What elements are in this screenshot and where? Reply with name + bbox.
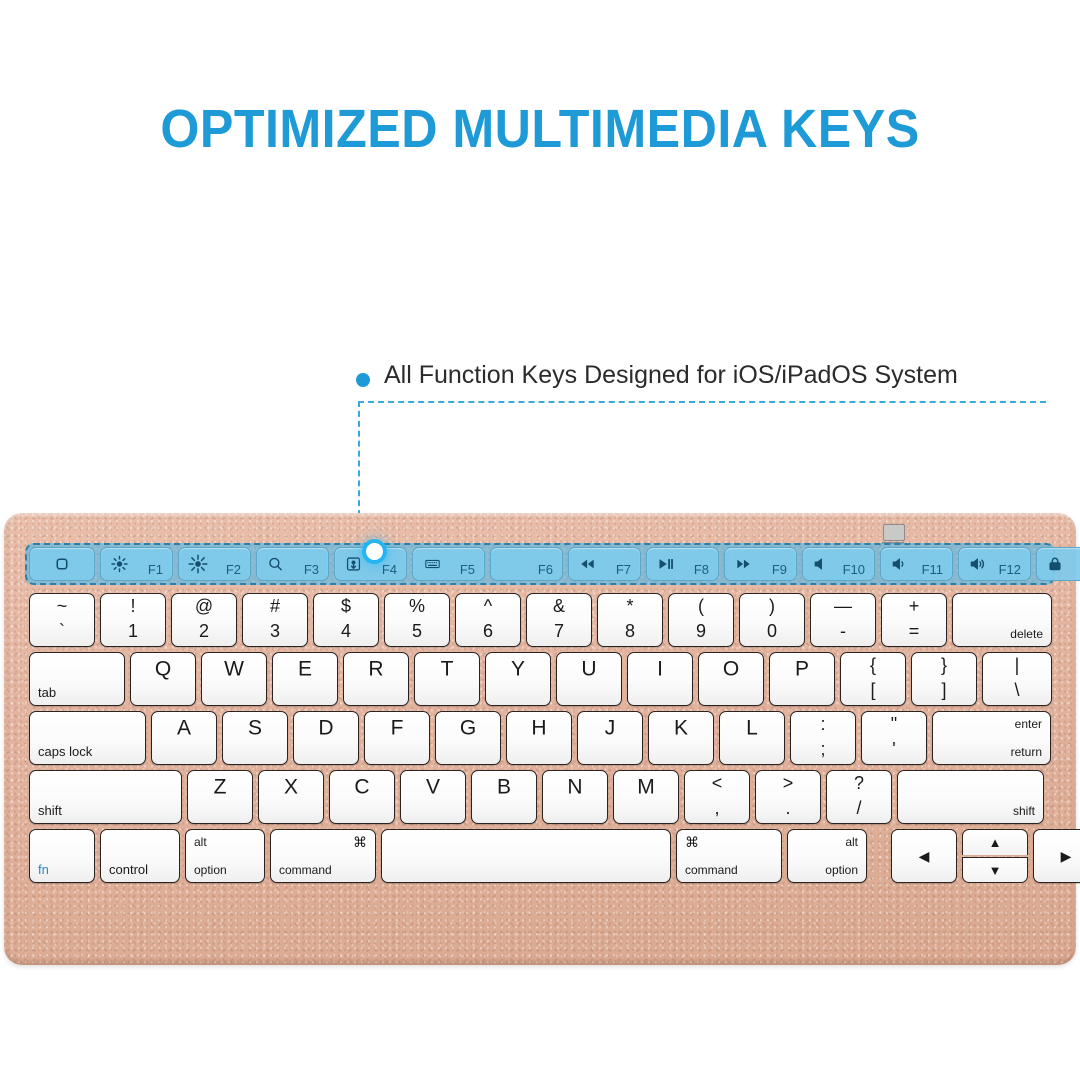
key-label-top: < bbox=[685, 774, 749, 792]
function-key-f7[interactable]: F7 bbox=[568, 547, 641, 581]
key-fn[interactable]: fn bbox=[29, 829, 95, 883]
brightness-up-icon bbox=[188, 554, 208, 574]
key-label: B bbox=[472, 777, 536, 798]
key-label: Y bbox=[486, 659, 550, 680]
key-\[interactable]: |\ bbox=[982, 652, 1052, 706]
key-label-top: ( bbox=[669, 597, 733, 615]
key-label-top: ^ bbox=[456, 597, 520, 615]
key-q[interactable]: Q bbox=[130, 652, 196, 706]
key-/[interactable]: ?/ bbox=[826, 770, 892, 824]
key-label-return: return bbox=[1011, 746, 1042, 758]
key-label: Q bbox=[131, 659, 195, 680]
home-icon bbox=[53, 555, 72, 574]
bullet-dot-icon bbox=[356, 373, 370, 387]
key-o[interactable]: O bbox=[698, 652, 764, 706]
keyboard-icon bbox=[422, 556, 443, 573]
key-3[interactable]: #3 bbox=[242, 593, 308, 647]
highlight-dot-icon bbox=[366, 543, 383, 560]
key-.[interactable]: >. bbox=[755, 770, 821, 824]
arrow-down-key[interactable]: ▼ bbox=[962, 857, 1028, 883]
key-label: M bbox=[614, 777, 678, 798]
key-label: Z bbox=[188, 777, 252, 798]
key-label-bottom: / bbox=[827, 799, 891, 817]
key-z[interactable]: Z bbox=[187, 770, 253, 824]
key-label: J bbox=[578, 718, 642, 739]
key-x[interactable]: X bbox=[258, 770, 324, 824]
function-key-f3[interactable]: F3 bbox=[256, 547, 329, 581]
key-label-bottom: 5 bbox=[385, 622, 449, 640]
key-label-bottom: = bbox=[882, 622, 946, 640]
function-key-label: F6 bbox=[538, 562, 553, 577]
key-=[interactable]: += bbox=[881, 593, 947, 647]
key-label: U bbox=[557, 659, 621, 680]
key-label: L bbox=[720, 718, 784, 739]
function-key-label: F3 bbox=[304, 562, 319, 577]
key-,[interactable]: <, bbox=[684, 770, 750, 824]
key-d[interactable]: D bbox=[293, 711, 359, 765]
callout-text: All Function Keys Designed for iOS/iPadO… bbox=[384, 361, 958, 390]
key-command[interactable]: ⌘command bbox=[270, 829, 376, 883]
key-option-left[interactable]: altoption bbox=[185, 829, 265, 883]
key-label-command: command bbox=[685, 864, 738, 876]
key-label-bottom: [ bbox=[841, 681, 905, 699]
function-key-f9[interactable]: F9 bbox=[724, 547, 797, 581]
qwerty-key-row: tabQWERTYUIOP{[}]|\ bbox=[29, 652, 1051, 706]
arrow-up-down-keys[interactable]: ▲▼ bbox=[962, 829, 1028, 883]
key-label-bottom: \ bbox=[983, 681, 1051, 699]
key-label-top: % bbox=[385, 597, 449, 615]
key-f[interactable]: F bbox=[364, 711, 430, 765]
key-label: N bbox=[543, 777, 607, 798]
lock-icon bbox=[1046, 555, 1064, 573]
key-label: T bbox=[415, 659, 479, 680]
key-k[interactable]: K bbox=[648, 711, 714, 765]
key-e[interactable]: E bbox=[272, 652, 338, 706]
volume-up-icon bbox=[968, 555, 987, 574]
key-label-top: * bbox=[598, 597, 662, 615]
key-label: F bbox=[365, 718, 429, 739]
key-label-top: ? bbox=[827, 774, 891, 792]
function-key-home[interactable] bbox=[29, 547, 95, 581]
key-enter-return[interactable]: enterreturn bbox=[932, 711, 1051, 765]
key-`[interactable]: ~` bbox=[29, 593, 95, 647]
key-b[interactable]: B bbox=[471, 770, 537, 824]
key-0[interactable]: )0 bbox=[739, 593, 805, 647]
key-option-right[interactable]: altoption bbox=[787, 829, 867, 883]
command-symbol-icon: ⌘ bbox=[353, 835, 367, 849]
page-title: OPTIMIZED MULTIMEDIA KEYS bbox=[38, 98, 1042, 160]
key-m[interactable]: M bbox=[613, 770, 679, 824]
arrow-left-key[interactable]: ◀ bbox=[891, 829, 957, 883]
key-label-bottom: 6 bbox=[456, 622, 520, 640]
rewind-icon bbox=[578, 555, 597, 574]
key-label-bottom: 2 bbox=[172, 622, 236, 640]
home-key-row: caps lockASDFGHJKL:;"'enterreturn bbox=[29, 711, 1051, 765]
key-'[interactable]: "' bbox=[861, 711, 927, 765]
key-6[interactable]: ^6 bbox=[455, 593, 521, 647]
key-][interactable]: }] bbox=[911, 652, 977, 706]
key-4[interactable]: $4 bbox=[313, 593, 379, 647]
key-s[interactable]: S bbox=[222, 711, 288, 765]
key-label-command: command bbox=[279, 864, 332, 876]
key-p[interactable]: P bbox=[769, 652, 835, 706]
key-label: delete bbox=[1010, 628, 1043, 640]
key-label: R bbox=[344, 659, 408, 680]
key-2[interactable]: @2 bbox=[171, 593, 237, 647]
key-u[interactable]: U bbox=[556, 652, 622, 706]
key-label: W bbox=[202, 659, 266, 680]
key-a[interactable]: A bbox=[151, 711, 217, 765]
dictation-icon bbox=[344, 555, 363, 574]
key-label-top: : bbox=[791, 715, 855, 733]
key-label-bottom: 4 bbox=[314, 622, 378, 640]
function-key-f6[interactable]: F6 bbox=[490, 547, 563, 581]
key-8[interactable]: *8 bbox=[597, 593, 663, 647]
key-caps-lock[interactable]: caps lock bbox=[29, 711, 146, 765]
key-label: tab bbox=[38, 686, 56, 699]
key-gap bbox=[872, 829, 886, 883]
callout-vertical-line bbox=[358, 401, 360, 526]
key-label: shift bbox=[38, 804, 62, 817]
key-label-bottom: ' bbox=[862, 740, 926, 758]
modifier-key-row: fncontrolaltoption⌘command⌘commandaltopt… bbox=[29, 829, 1051, 883]
key-;[interactable]: :; bbox=[790, 711, 856, 765]
key-w[interactable]: W bbox=[201, 652, 267, 706]
key-g[interactable]: G bbox=[435, 711, 501, 765]
key-label-bottom: 0 bbox=[740, 622, 804, 640]
key-label: caps lock bbox=[38, 745, 92, 758]
key-space[interactable] bbox=[381, 829, 671, 883]
key-label-bottom: 1 bbox=[101, 622, 165, 640]
function-key-del[interactable]: Del bbox=[1036, 547, 1080, 581]
command-symbol-icon: ⌘ bbox=[685, 835, 699, 849]
key-label-top: ! bbox=[101, 597, 165, 615]
key-label-bottom: ; bbox=[791, 740, 855, 758]
function-key-f4[interactable]: F4 bbox=[334, 547, 407, 581]
key-label-top: > bbox=[756, 774, 820, 792]
function-key-f10[interactable]: F10 bbox=[802, 547, 875, 581]
function-key-label: F10 bbox=[843, 562, 865, 577]
key-label-bottom: - bbox=[811, 622, 875, 640]
function-key-f8[interactable]: F8 bbox=[646, 547, 719, 581]
key-delete[interactable]: delete bbox=[952, 593, 1052, 647]
arrow-right-key[interactable]: ▶ bbox=[1033, 829, 1080, 883]
function-key-f1[interactable]: F1 bbox=[100, 547, 173, 581]
mute-icon bbox=[812, 555, 831, 574]
key-label-top: { bbox=[841, 656, 905, 674]
key-label: G bbox=[436, 718, 500, 739]
key-label-top: & bbox=[527, 597, 591, 615]
search-icon bbox=[266, 555, 285, 574]
key-label: shift bbox=[1013, 805, 1035, 817]
key-n[interactable]: N bbox=[542, 770, 608, 824]
function-key-f12[interactable]: F12 bbox=[958, 547, 1031, 581]
key-label: ▶ bbox=[1034, 849, 1080, 863]
key-label-option: option bbox=[194, 864, 227, 876]
key-l[interactable]: L bbox=[719, 711, 785, 765]
key-label: D bbox=[294, 718, 358, 739]
key-command[interactable]: ⌘command bbox=[676, 829, 782, 883]
function-key-f5[interactable]: F5 bbox=[412, 547, 485, 581]
key-label: H bbox=[507, 718, 571, 739]
key-label: P bbox=[770, 659, 834, 680]
key-label-enter: enter bbox=[1015, 718, 1042, 730]
key-label-top: | bbox=[983, 656, 1051, 674]
key-label: C bbox=[330, 777, 394, 798]
key-5[interactable]: %5 bbox=[384, 593, 450, 647]
callout-annotation: All Function Keys Designed for iOS/iPadO… bbox=[356, 361, 1046, 417]
key-i[interactable]: I bbox=[627, 652, 693, 706]
function-key-label: F4 bbox=[382, 562, 397, 577]
function-key-label: F11 bbox=[922, 562, 943, 577]
key-label: fn bbox=[38, 863, 49, 876]
key-label: E bbox=[273, 659, 337, 680]
key-label-top: + bbox=[882, 597, 946, 615]
function-key-label: F2 bbox=[226, 562, 241, 577]
function-key-label: F5 bbox=[460, 562, 475, 577]
key-label: I bbox=[628, 659, 692, 680]
key-label-top: ~ bbox=[30, 597, 94, 615]
key-label-top: @ bbox=[172, 597, 236, 615]
key-label-bottom: , bbox=[685, 799, 749, 817]
key-label: O bbox=[699, 659, 763, 680]
keyboard-device: F1F2F3F4F5F6F7F8F9F10F11F12Del ~`!1@2#3$… bbox=[4, 513, 1076, 965]
callout-horizontal-line bbox=[358, 401, 1046, 403]
key-label: A bbox=[152, 718, 216, 739]
function-key-label: F1 bbox=[148, 562, 163, 577]
key-c[interactable]: C bbox=[329, 770, 395, 824]
key-label: S bbox=[223, 718, 287, 739]
key-label-top: } bbox=[912, 656, 976, 674]
key-label-bottom: 3 bbox=[243, 622, 307, 640]
key-shift[interactable]: shift bbox=[29, 770, 182, 824]
key-control[interactable]: control bbox=[100, 829, 180, 883]
key-label-option: option bbox=[825, 864, 858, 876]
key-7[interactable]: &7 bbox=[526, 593, 592, 647]
play-pause-icon bbox=[656, 555, 675, 574]
number-key-row: ~`!1@2#3$4%5^6&7*8(9)0—-+=delete bbox=[29, 593, 1051, 647]
function-key-label: F12 bbox=[999, 562, 1021, 577]
key-v[interactable]: V bbox=[400, 770, 466, 824]
function-key-label: F7 bbox=[616, 562, 631, 577]
key-label-bottom: ] bbox=[912, 681, 976, 699]
key-label-top: # bbox=[243, 597, 307, 615]
key-label-bottom: 9 bbox=[669, 622, 733, 640]
key-label-top: ) bbox=[740, 597, 804, 615]
key-label-top: — bbox=[811, 597, 875, 615]
key-label-alt: alt bbox=[194, 836, 207, 848]
volume-down-icon bbox=[890, 555, 909, 574]
brightness-down-icon bbox=[110, 555, 129, 574]
key--[interactable]: —- bbox=[810, 593, 876, 647]
key-label-bottom: . bbox=[756, 799, 820, 817]
key-label: ◀ bbox=[892, 849, 956, 863]
key-y[interactable]: Y bbox=[485, 652, 551, 706]
key-j[interactable]: J bbox=[577, 711, 643, 765]
key-label: K bbox=[649, 718, 713, 739]
key-1[interactable]: !1 bbox=[100, 593, 166, 647]
key-h[interactable]: H bbox=[506, 711, 572, 765]
key-label-bottom: 7 bbox=[527, 622, 591, 640]
key-9[interactable]: (9 bbox=[668, 593, 734, 647]
key-r[interactable]: R bbox=[343, 652, 409, 706]
fast-forward-icon bbox=[734, 555, 753, 574]
function-key-label: F9 bbox=[772, 562, 787, 577]
key-label-bottom: 8 bbox=[598, 622, 662, 640]
key-label-bottom: ` bbox=[30, 622, 94, 640]
key-t[interactable]: T bbox=[414, 652, 480, 706]
key-label-alt: alt bbox=[845, 836, 858, 848]
status-indicator-icon bbox=[883, 524, 905, 541]
function-key-f11[interactable]: F11 bbox=[880, 547, 953, 581]
key-tab[interactable]: tab bbox=[29, 652, 125, 706]
key-label-top: " bbox=[862, 715, 926, 733]
key-label: control bbox=[109, 863, 148, 876]
function-key-label: F8 bbox=[694, 562, 709, 577]
key-shift[interactable]: shift bbox=[897, 770, 1044, 824]
key-[[interactable]: {[ bbox=[840, 652, 906, 706]
key-label: X bbox=[259, 777, 323, 798]
key-label: V bbox=[401, 777, 465, 798]
function-key-row: F1F2F3F4F5F6F7F8F9F10F11F12Del bbox=[29, 547, 1051, 581]
key-label-top: $ bbox=[314, 597, 378, 615]
shift-key-row: shiftZXCVBNM<,>.?/shift bbox=[29, 770, 1051, 824]
arrow-up-key[interactable]: ▲ bbox=[962, 829, 1028, 855]
function-key-f2[interactable]: F2 bbox=[178, 547, 251, 581]
